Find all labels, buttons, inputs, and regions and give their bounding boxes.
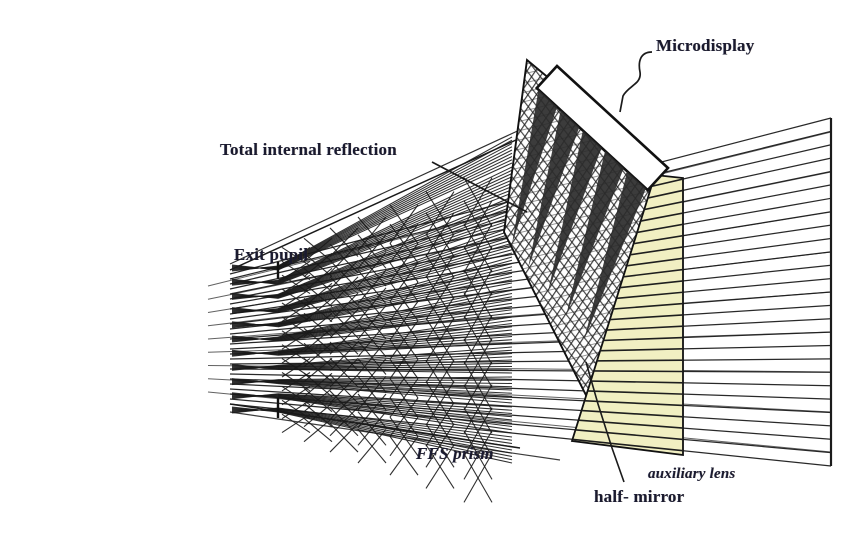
label-exit-pupil: Exit pupil	[234, 245, 308, 265]
label-half-mirror: half- mirror	[594, 487, 684, 507]
label-auxiliary-lens: auxiliary lens	[648, 466, 735, 483]
label-microdisplay: Microdisplay	[656, 36, 754, 56]
label-total-internal-reflection: Total internal reflection	[220, 140, 397, 160]
label-ffs-prism: FFS prism	[416, 444, 494, 464]
optical-diagram-figure: Microdisplay Total internal reflection E…	[0, 0, 859, 536]
